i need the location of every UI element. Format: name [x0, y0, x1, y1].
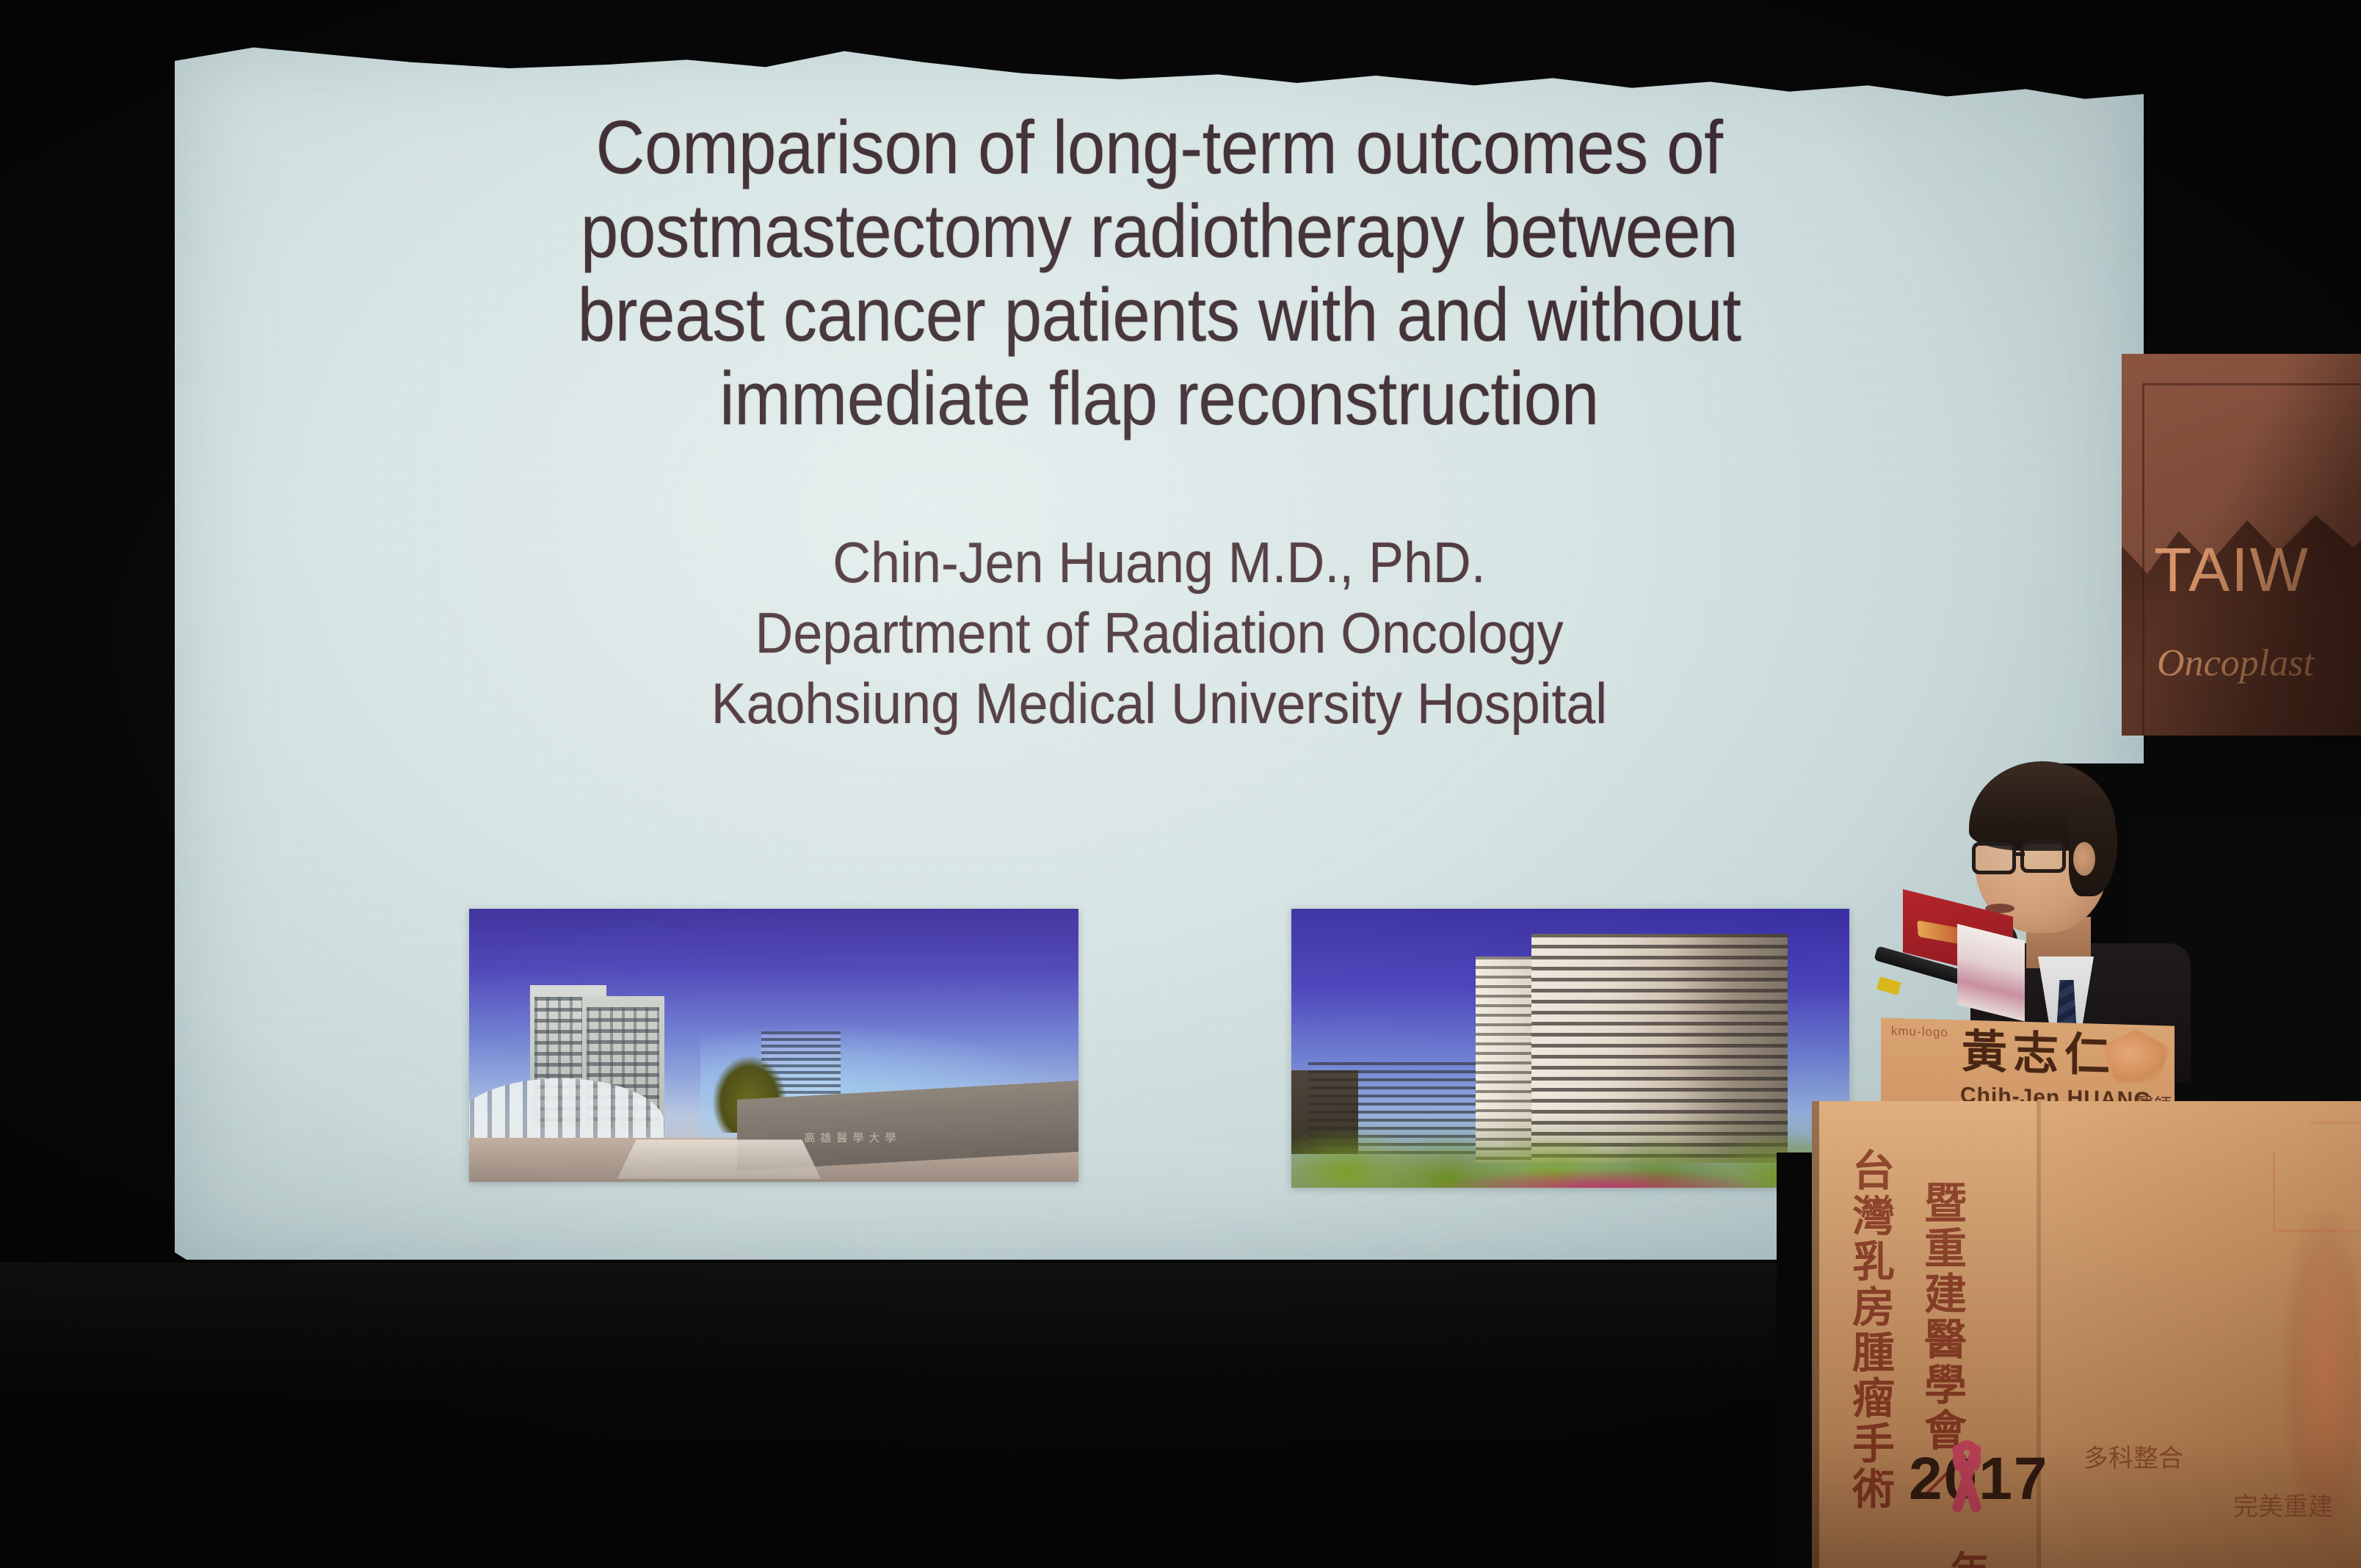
- placard-logo-mark: kmu-logo: [1891, 1024, 1948, 1040]
- author-institution: Kaohsiung Medical University Hospital: [301, 668, 2018, 738]
- taiwan-oncoplastic-banner: TAIW Oncoplast: [2122, 354, 2361, 736]
- author-department: Department of Radiation Oncology: [301, 598, 2018, 668]
- banner-shadow-overlay: [2122, 354, 2361, 736]
- slide-title-line-3: breast cancer patients with and without: [319, 273, 1999, 357]
- author-name: Chin-Jen Huang M.D., PhD.: [301, 527, 2018, 598]
- campus-photo: 高雄醫學大學: [469, 909, 1078, 1182]
- speaker-hair-side: [2069, 794, 2117, 896]
- placard-name-chinese: 黃志仁: [1962, 1028, 2116, 1078]
- eyeglasses-lens-right: [2020, 841, 2066, 873]
- flower-bed: [1414, 1163, 1794, 1188]
- slide-content: Comparison of long-term outcomes of post…: [175, 35, 2144, 1260]
- speaker-ear: [2073, 842, 2095, 876]
- microphone-yellow-band: [1876, 976, 1901, 995]
- podium-shading: [1812, 1101, 2361, 1568]
- screen-surface: Comparison of long-term outcomes of post…: [175, 35, 2144, 1260]
- microphone-flag-white: [1957, 924, 2025, 1022]
- microphone: [1869, 875, 2053, 1022]
- hospital-photo: [1291, 909, 1849, 1188]
- eyeglasses-bridge: [2014, 852, 2025, 856]
- podium-left-shadow: [1777, 1153, 1815, 1568]
- slide-title: Comparison of long-term outcomes of post…: [319, 106, 1999, 440]
- slide-title-line-2: postmastectomy radiotherapy between: [319, 189, 1999, 273]
- eyeglasses-lens-left: [1972, 842, 2016, 874]
- photo-scene: Comparison of long-term outcomes of post…: [0, 0, 2361, 1568]
- slide-title-line-1: Comparison of long-term outcomes of: [319, 106, 1999, 189]
- slide-title-line-4: immediate flap reconstruction: [319, 357, 1999, 440]
- campus-wall-sign: 高雄醫學大學: [805, 1130, 902, 1145]
- projection-screen: Comparison of long-term outcomes of post…: [175, 35, 2144, 1260]
- conference-podium: TOPBS TOPBS 台灣乳房腫瘤手術暨重建醫學會 台灣乳房腫瘤手術 暨重建醫…: [1812, 1101, 2361, 1568]
- slide-author-block: Chin-Jen Huang M.D., PhD. Department of …: [301, 527, 2018, 738]
- campus-walkway: [617, 1140, 821, 1179]
